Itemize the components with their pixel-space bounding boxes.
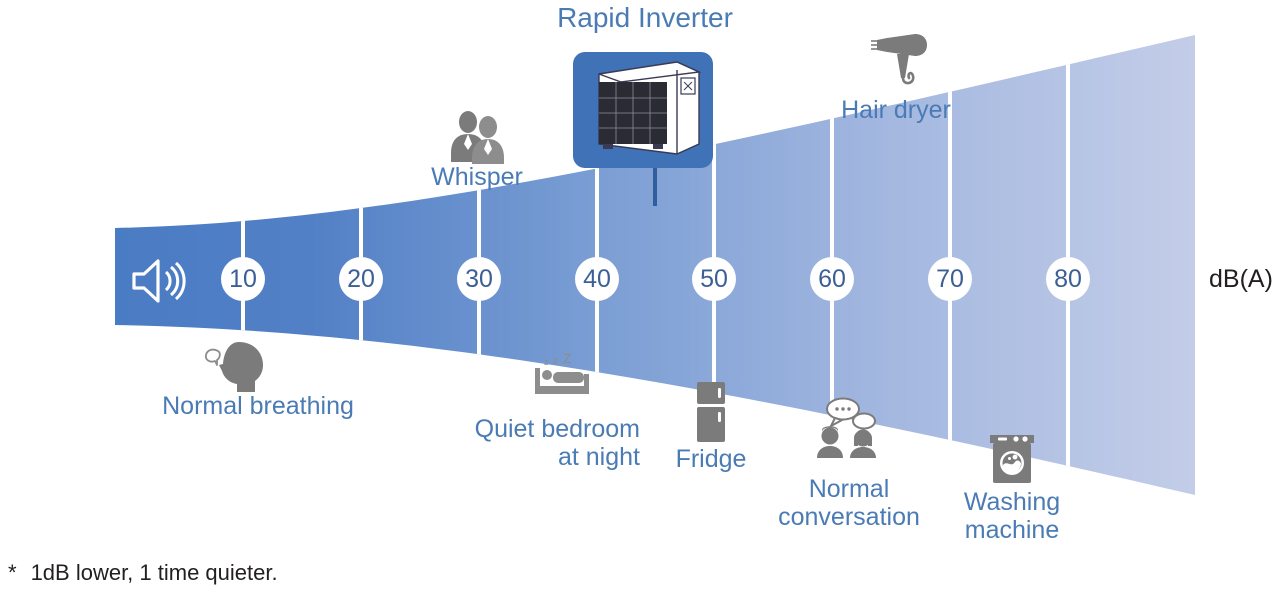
footnote-marker: * [8,560,17,585]
two-people-icon [446,110,508,169]
tick-40: 40 [575,257,619,301]
tick-30: 30 [457,257,501,301]
fridge-icon [691,381,731,448]
svg-text:z: z [553,355,559,367]
hair-dryer-icon [863,30,937,99]
label-quiet-bedroom: Quiet bedroom at night [446,415,640,471]
infographic-root: 10 20 30 40 50 60 70 80 dB(A) Rapid Inve… [0,0,1280,607]
bed-sleep-icon: z z Z [527,352,597,405]
label-fridge: Fridge [676,445,747,473]
label-normal-conversation: Normal conversation [778,475,920,531]
label-hair-dryer: Hair dryer [841,96,951,124]
footnote-text: 1dB lower, 1 time quieter. [31,560,278,585]
svg-text:z: z [544,357,549,367]
breathing-head-icon [197,340,273,399]
svg-text:Z: Z [563,352,572,366]
tick-50: 50 [692,257,736,301]
speaker-icon [128,256,186,311]
tick-80: 80 [1046,257,1090,301]
label-whisper: Whisper [431,163,523,191]
tick-20: 20 [339,257,383,301]
rapid-inverter-title: Rapid Inverter [557,2,733,34]
tick-70: 70 [928,257,972,301]
unit-label: dB(A) [1209,265,1273,294]
outdoor-ac-unit-icon [573,52,713,168]
label-normal-breathing: Normal breathing [162,392,354,420]
two-people-talking-icon [813,396,885,463]
washing-machine-icon [984,429,1040,490]
tick-60: 60 [810,257,854,301]
label-washing-machine: Washing machine [964,488,1060,544]
tick-10: 10 [221,257,265,301]
footnote: *1dB lower, 1 time quieter. [8,560,278,586]
